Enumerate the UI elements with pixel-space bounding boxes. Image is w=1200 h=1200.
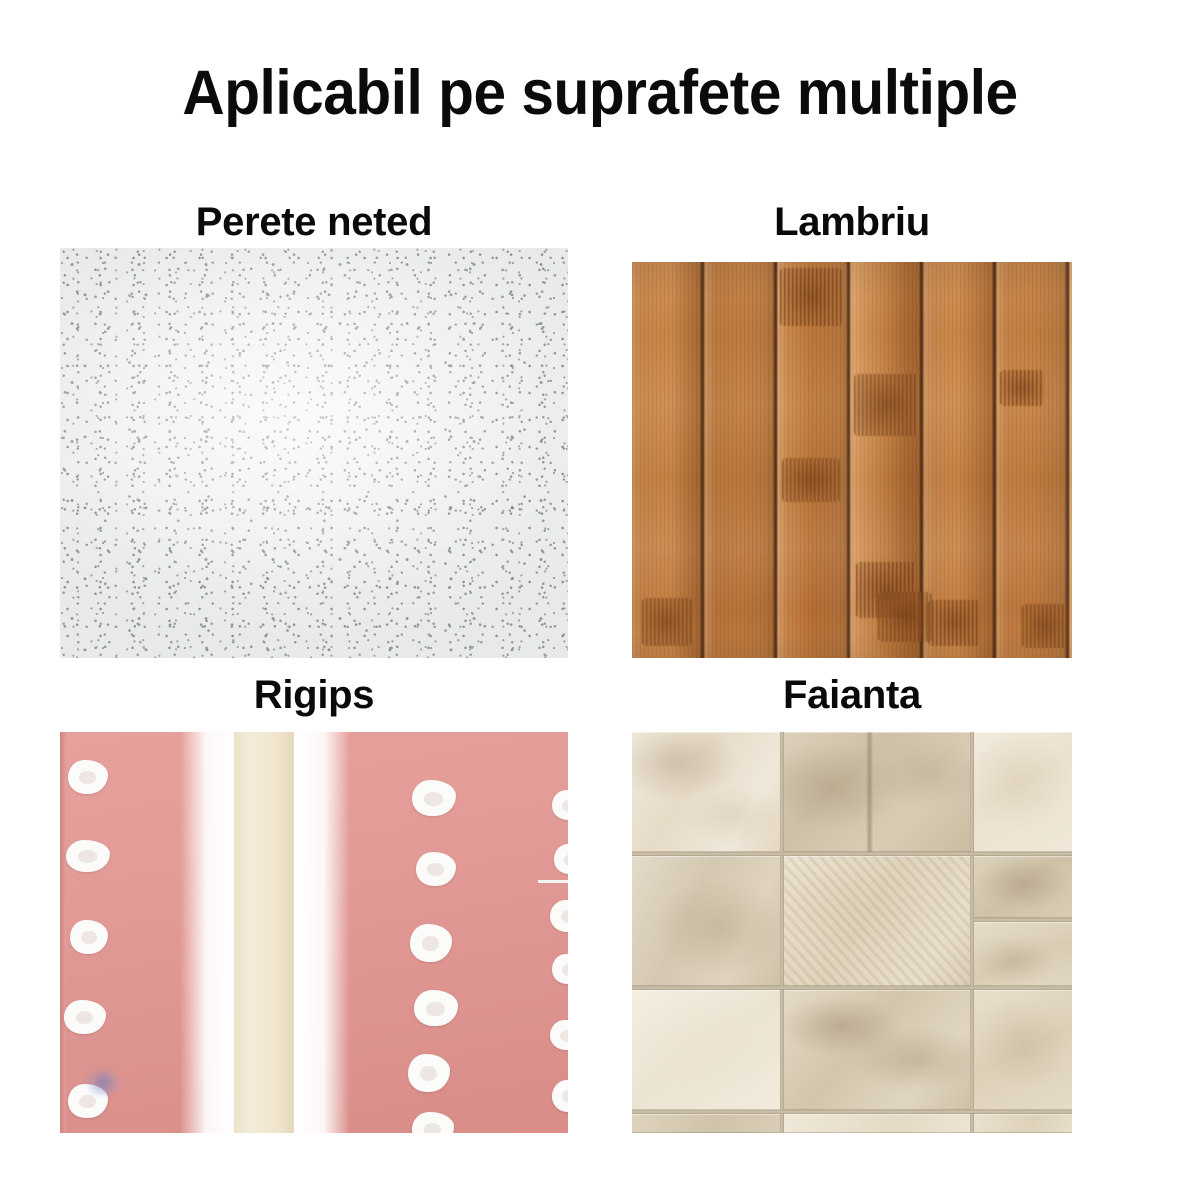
- grout-line: [974, 918, 1072, 922]
- drywall-joint-tape: [234, 732, 294, 1133]
- joint-compound-left: [180, 732, 238, 1133]
- tile: [974, 856, 1072, 918]
- joint-compound-right: [292, 732, 350, 1133]
- grout-line: [970, 732, 974, 1133]
- tile: [784, 732, 970, 852]
- grout-line: [632, 852, 1072, 856]
- tile: [632, 856, 780, 986]
- grout-line: [632, 986, 1072, 990]
- panel-label-perete-neted: Perete neted: [60, 200, 568, 244]
- tile: [632, 990, 780, 1110]
- grout-line: [780, 732, 784, 1133]
- panel-label-lambriu: Lambriu: [632, 200, 1072, 244]
- panel-label-rigips: Rigips: [60, 673, 568, 717]
- drywall-left-edge: [60, 732, 66, 1133]
- tile: [974, 922, 1072, 986]
- smooth-wall-highlight: [60, 248, 568, 658]
- page-title: Aplicabil pe suprafete multiple: [42, 58, 1158, 128]
- panel-image-rigips: [60, 732, 568, 1133]
- panel-label-faianta: Faianta: [632, 673, 1072, 717]
- drywall-blue-glare: [86, 1070, 120, 1096]
- tile: [784, 990, 970, 1110]
- grout-line: [632, 1110, 1072, 1114]
- tile: [974, 1114, 1072, 1133]
- panel-image-perete-neted: [60, 248, 568, 658]
- tile: [632, 1114, 780, 1133]
- tile: [784, 856, 970, 986]
- tile: [784, 1114, 970, 1133]
- panel-image-lambriu: [632, 262, 1072, 658]
- panel-image-faianta: [632, 732, 1072, 1133]
- tile: [632, 732, 780, 852]
- tile: [974, 990, 1072, 1110]
- bamboo-edge-shadow: [632, 262, 1072, 658]
- infographic-page: Aplicabil pe suprafete multiple Perete n…: [0, 0, 1200, 1200]
- tile: [974, 732, 1072, 852]
- drywall-board-gap: [538, 880, 568, 883]
